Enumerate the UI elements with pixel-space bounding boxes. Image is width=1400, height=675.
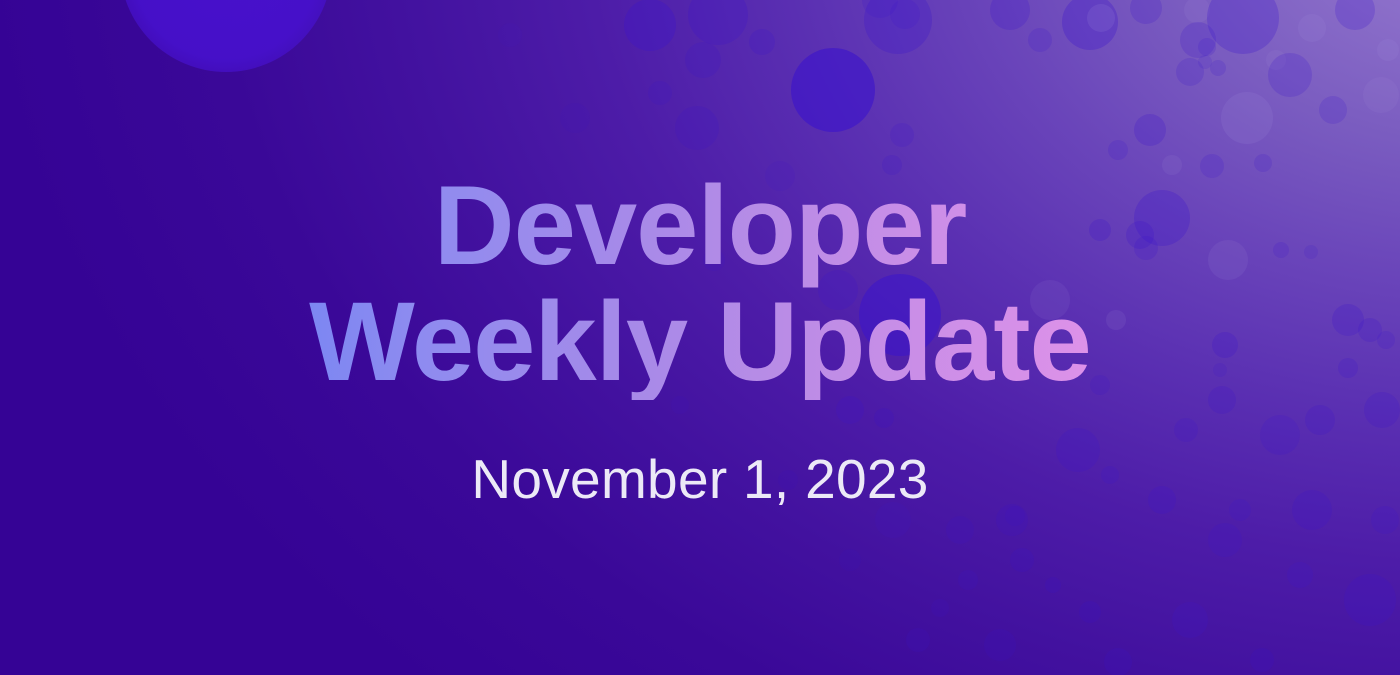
- title-line-2: Weekly Update: [309, 284, 1091, 400]
- page-title: Developer Weekly Update: [299, 168, 1101, 401]
- slide-content: Developer Weekly Update November 1, 2023: [0, 0, 1400, 675]
- slide-date: November 1, 2023: [471, 452, 928, 507]
- title-slide: Developer Weekly Update November 1, 2023: [0, 0, 1400, 675]
- title-line-1: Developer: [309, 168, 1091, 284]
